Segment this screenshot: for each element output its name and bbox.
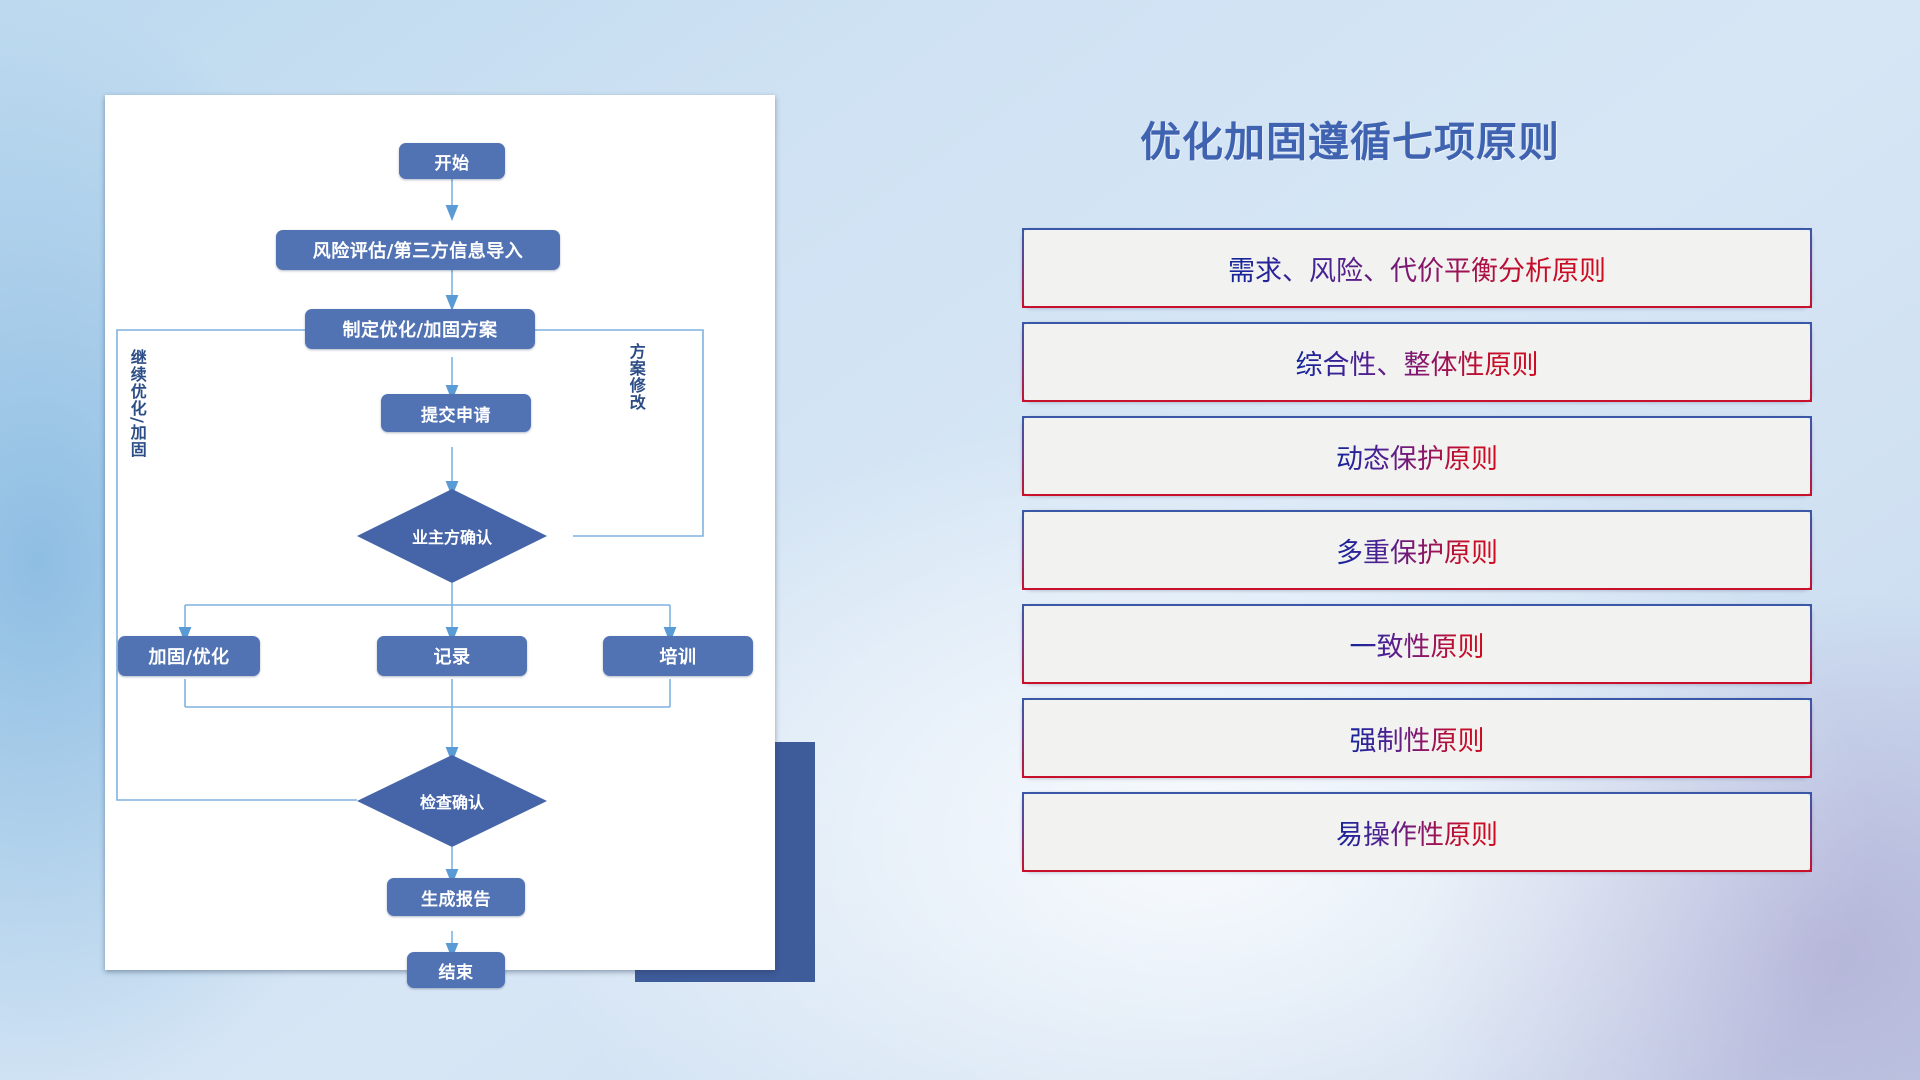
flow-node-reinforce-optimize[interactable]: 加固/优化 [118, 636, 260, 676]
principle-card[interactable]: 易操作性原则 [1022, 792, 1812, 872]
principle-label: 综合性、整体性原则 [1296, 343, 1539, 382]
flow-node-label: 风险评估/第三方信息导入 [313, 237, 524, 263]
flow-node-training[interactable]: 培训 [603, 636, 753, 676]
principle-label: 一致性原则 [1350, 625, 1485, 664]
flow-decision-check-confirm: 检查确认 [357, 755, 547, 847]
flow-node-label: 培训 [660, 643, 697, 669]
flow-node-submit-application[interactable]: 提交申请 [381, 394, 531, 432]
flow-node-record[interactable]: 记录 [377, 636, 527, 676]
principle-label: 动态保护原则 [1336, 437, 1498, 476]
principle-card[interactable]: 多重保护原则 [1022, 510, 1812, 590]
principle-label: 需求、风险、代价平衡分析原则 [1228, 249, 1606, 288]
flow-node-label: 记录 [434, 643, 471, 669]
principle-card[interactable]: 综合性、整体性原则 [1022, 322, 1812, 402]
page-title: 优化加固遵循七项原则 [1020, 108, 1680, 168]
flow-node-make-plan[interactable]: 制定优化/加固方案 [305, 309, 535, 349]
principles-list: 需求、风险、代价平衡分析原则 综合性、整体性原则 动态保护原则 多重保护原则 一… [1022, 228, 1812, 886]
flowchart-panel: 业主方确认 检查确认 开始 风险评估/第三方信息导入 制定优化/加固方案 提交申… [105, 95, 775, 970]
flow-node-label: 提交申请 [421, 401, 491, 426]
principle-label: 多重保护原则 [1336, 531, 1498, 570]
flow-node-risk-assessment[interactable]: 风险评估/第三方信息导入 [276, 230, 560, 270]
flow-node-label: 生成报告 [421, 885, 491, 910]
flow-node-label: 制定优化/加固方案 [342, 316, 497, 342]
principle-card[interactable]: 动态保护原则 [1022, 416, 1812, 496]
flow-node-end[interactable]: 结束 [407, 952, 505, 988]
flow-node-label: 结束 [439, 958, 474, 983]
principle-card[interactable]: 需求、风险、代价平衡分析原则 [1022, 228, 1812, 308]
flow-node-label: 加固/优化 [148, 643, 229, 669]
flow-node-generate-report[interactable]: 生成报告 [387, 878, 525, 916]
principle-label: 强制性原则 [1350, 719, 1485, 758]
flow-edge-label-continue-optimize: 继续优化/加固 [128, 349, 145, 529]
principle-label: 易操作性原则 [1336, 813, 1498, 852]
flow-decision-owner-confirm: 业主方确认 [357, 489, 547, 583]
flow-node-label: 开始 [435, 149, 470, 174]
flow-edge-label-plan-revision: 方案修改 [627, 343, 644, 463]
principle-card[interactable]: 一致性原则 [1022, 604, 1812, 684]
flow-node-start[interactable]: 开始 [399, 143, 505, 179]
principle-card[interactable]: 强制性原则 [1022, 698, 1812, 778]
